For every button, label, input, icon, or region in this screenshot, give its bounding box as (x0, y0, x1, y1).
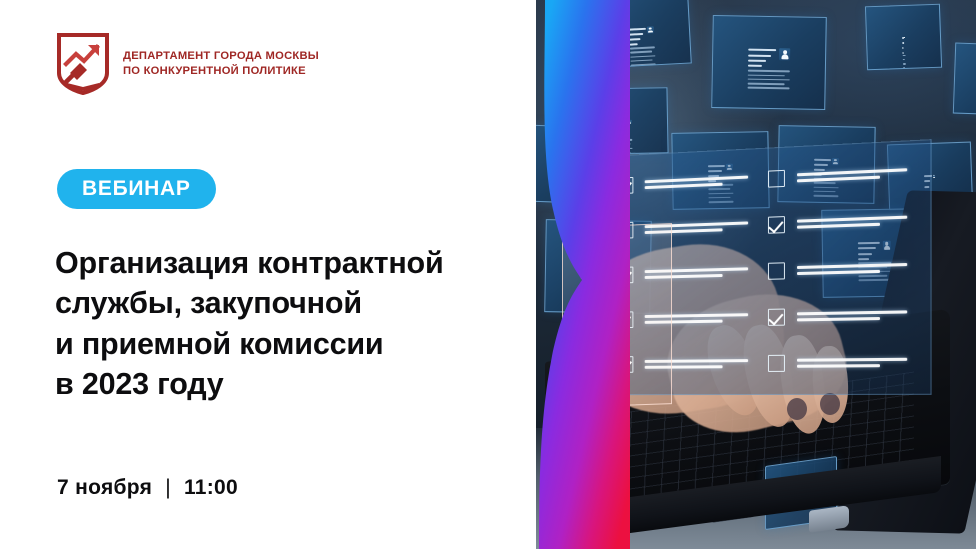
empty-checkbox-icon (768, 263, 785, 281)
checklist-item-lines (645, 176, 753, 189)
card-body-lines (903, 55, 906, 70)
checked-checkbox-icon (768, 216, 785, 234)
checklist-item-lines (798, 358, 913, 367)
person-avatar-icon (932, 174, 935, 177)
fingernail (820, 393, 840, 415)
card-header (616, 119, 632, 137)
department-logo[interactable]: Департамент города Москвы по конкурентно… (57, 33, 319, 95)
checklist-column-right (768, 164, 913, 372)
checklist-item-lines (798, 311, 913, 321)
checklist-row (617, 172, 753, 195)
person-avatar-icon (603, 261, 624, 314)
person-avatar-icon (628, 119, 632, 124)
card-body-lines (558, 178, 579, 197)
card-header (748, 48, 790, 68)
card-body-lines (748, 70, 790, 89)
checklist-item-lines (798, 169, 913, 183)
floating-id-card (711, 15, 827, 110)
checklist-item-lines (798, 216, 913, 229)
page-title-line-2: службы, закупочной (55, 283, 535, 323)
checklist-row (768, 306, 913, 326)
hero-photo-panel (536, 0, 976, 549)
schedule-separator: | (165, 476, 171, 500)
page-title: Организация контрактнойслужбы, закупочно… (55, 243, 535, 404)
page-title-line-3: и приемной комиссии (55, 324, 535, 364)
checklist-row (768, 212, 913, 234)
department-logo-text: Департамент города Москвы по конкурентно… (123, 49, 319, 79)
checklist-row (768, 259, 913, 280)
card-text-lines (629, 26, 646, 45)
floating-id-card (865, 4, 942, 70)
moscow-competition-policy-emblem-icon (57, 33, 109, 95)
fingernail (787, 398, 807, 420)
logo-text-line-2: по конкурентной политике (123, 64, 319, 79)
card-text-lines (748, 48, 776, 68)
person-avatar-icon (779, 48, 790, 60)
checklist-row (768, 354, 913, 372)
schedule: 7 ноября | 11:00 (57, 476, 238, 500)
person-avatar-icon (904, 37, 905, 38)
logo-text-line-1: Департамент города Москвы (123, 50, 319, 62)
checked-checkbox-icon (768, 309, 785, 326)
card-header (629, 26, 654, 46)
person-avatar-icon (574, 158, 579, 164)
person-avatar-icon (647, 26, 654, 33)
card-body-lines (617, 139, 633, 155)
card-header (902, 37, 905, 55)
card-body-lines (630, 46, 655, 66)
empty-checkbox-icon (768, 170, 785, 188)
card-text-lines (902, 37, 904, 55)
event-date: 7 ноября (57, 476, 152, 500)
page-title-line-4: в 2023 году (55, 364, 535, 404)
card-text-lines (559, 158, 573, 177)
card-text-lines (616, 120, 627, 138)
page-title-line-1: Организация контрактной (55, 243, 535, 283)
holographic-profile-card (562, 223, 672, 408)
content-panel: Департамент города Москвы по конкурентно… (0, 0, 545, 549)
webinar-badge: ВЕБИНАР (57, 169, 216, 209)
profile-text-lines (603, 316, 632, 334)
floating-id-card (591, 0, 691, 68)
card-header (559, 158, 580, 177)
photo-background (536, 0, 976, 549)
empty-checkbox-icon (768, 355, 785, 372)
checklist-row (768, 164, 913, 188)
event-time: 11:00 (184, 476, 238, 500)
checked-checkbox-icon (617, 177, 633, 194)
checklist-item-lines (798, 263, 913, 274)
webinar-poster: Департамент города Москвы по конкурентно… (0, 0, 976, 549)
floating-id-card (953, 42, 976, 116)
